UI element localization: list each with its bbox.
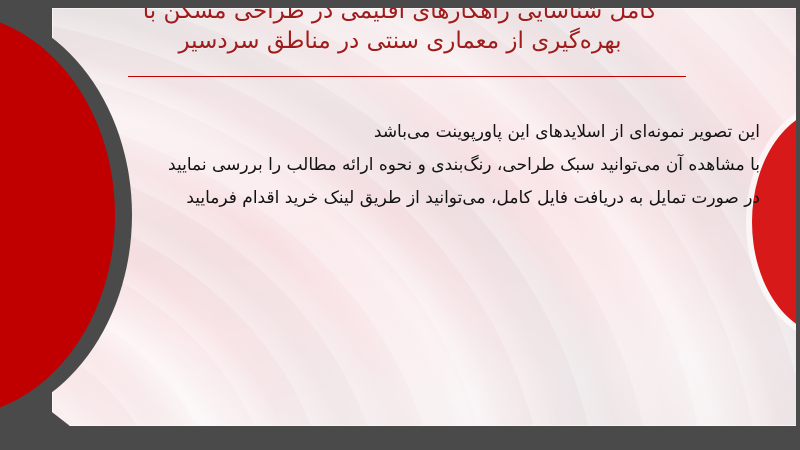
background-arc-texture <box>52 8 798 426</box>
slide-bottom-border <box>0 426 800 450</box>
body-line-2: با مشاهده آن می‌توانید سبک طراحی، رنگ‌بن… <box>60 153 760 177</box>
slide-right-border <box>796 0 800 450</box>
presentation-slide: کامل شناسایی راهکارهای اقلیمی در طراحی م… <box>0 0 800 450</box>
slide-top-border <box>0 0 800 8</box>
slide-body-block: این تصویر نمونه‌ای از اسلایدهای این پاور… <box>60 120 760 210</box>
body-line-1: این تصویر نمونه‌ای از اسلایدهای این پاور… <box>60 120 760 144</box>
title-underline-rule <box>128 76 686 77</box>
slide-title-block: کامل شناسایی راهکارهای اقلیمی در طراحی م… <box>120 0 680 56</box>
body-line-3: در صورت تمایل به دریافت فایل کامل، می‌تو… <box>60 186 760 210</box>
slide-content-panel <box>52 8 798 426</box>
slide-title: کامل شناسایی راهکارهای اقلیمی در طراحی م… <box>120 0 680 56</box>
